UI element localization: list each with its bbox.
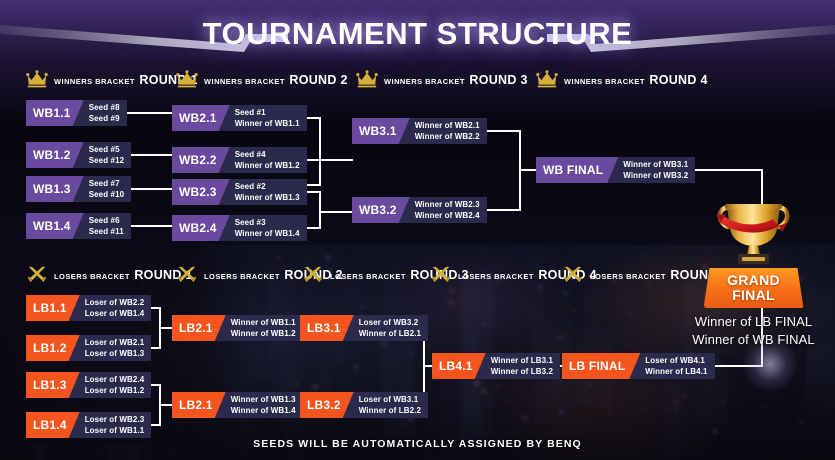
match-info: Winner of LB3.1 Winner of LB3.2 (475, 353, 560, 379)
header-subtitle: LOSERS BRACKET (458, 272, 534, 281)
match-box-wb1-1[interactable]: WB1.1 Seed #8 Seed #9 (26, 100, 127, 126)
match-slot-bottom: Loser of WB1.4 (85, 308, 145, 319)
header-winners-round-3: WINNERS BRACKET ROUND 3 (356, 70, 528, 90)
match-info: Winner of WB2.3 Winner of WB2.4 (399, 197, 487, 223)
match-slot-bottom: Loser of WB1.3 (85, 348, 145, 359)
match-info: Loser of WB3.2 Winner of LB2.1 (343, 315, 428, 341)
match-tag: WB FINAL (536, 157, 618, 183)
match-box-lb3-1[interactable]: LB3.1 Loser of WB3.2 Winner of LB2.1 (300, 315, 428, 341)
match-box-wb3-2[interactable]: WB3.2 Winner of WB2.3 Winner of WB2.4 (352, 197, 487, 223)
header-subtitle: WINNERS BRACKET (384, 77, 465, 86)
crown-icon (536, 70, 558, 90)
crown-icon (356, 70, 378, 90)
match-info: Loser of WB4.1 Winner of LB4.1 (629, 353, 714, 379)
match-slot-top: Winner of WB2.1 (415, 120, 480, 131)
match-box-wb2-3[interactable]: WB2.3 Seed #2 Winner of WB1.3 (172, 179, 307, 205)
match-slot-top: Seed #1 (235, 107, 300, 118)
header-subtitle: WINNERS BRACKET (564, 77, 645, 86)
match-slot-top: Seed #3 (235, 217, 300, 228)
match-info: Loser of WB3.1 Winner of LB2.2 (343, 392, 428, 418)
match-info: Winner of WB1.3 Winner of WB1.4 (215, 392, 303, 418)
match-slot-bottom: Winner of WB1.4 (231, 405, 296, 416)
match-info: Loser of WB2.2 Loser of WB1.4 (69, 295, 152, 321)
header-subtitle: LOSERS BRACKET (590, 272, 666, 281)
match-slot-top: Seed #6 (89, 215, 124, 226)
crown-icon (26, 70, 48, 90)
header-subtitle: WINNERS BRACKET (54, 77, 135, 86)
crossed-swords-icon (26, 265, 48, 285)
match-slot-bottom: Seed #9 (89, 113, 120, 124)
header-winners-round-4: WINNERS BRACKET ROUND 4 (536, 70, 708, 90)
match-slot-top: Loser of WB3.2 (359, 317, 421, 328)
match-info: Loser of WB2.4 Loser of WB1.2 (69, 372, 152, 398)
match-slot-top: Seed #7 (89, 178, 125, 189)
header-subtitle: LOSERS BRACKET (330, 272, 406, 281)
match-slot-bottom: Loser of WB1.2 (85, 385, 145, 396)
page-title: TOURNAMENT STRUCTURE (0, 16, 835, 52)
grand-final-banner[interactable]: GRAND FINAL (704, 268, 804, 308)
match-slot-bottom: Winner of LB2.1 (359, 328, 421, 339)
grand-final-label-line2: FINAL (732, 288, 775, 303)
match-box-lb1-2[interactable]: LB1.2 Loser of WB2.1 Loser of WB1.3 (26, 335, 151, 361)
match-box-wb2-1[interactable]: WB2.1 Seed #1 Winner of WB1.1 (172, 105, 307, 131)
match-slot-bottom: Loser of WB1.1 (85, 425, 145, 436)
tournament-bracket-infographic: TOURNAMENT STRUCTURE (0, 0, 835, 460)
match-tag: LB FINAL (562, 353, 640, 379)
grand-final-entrant-1: Winner of LB FINAL (672, 313, 835, 331)
crossed-swords-icon (302, 265, 324, 285)
header-title: ROUND 4 (649, 73, 707, 87)
match-slot-top: Loser of WB2.2 (85, 297, 145, 308)
match-box-lb1-1[interactable]: LB1.1 Loser of WB2.2 Loser of WB1.4 (26, 295, 151, 321)
match-slot-bottom: Winner of WB1.4 (235, 228, 300, 239)
match-info: Winner of WB3.1 Winner of WB3.2 (607, 157, 695, 183)
match-slot-top: Winner of WB3.1 (623, 159, 688, 170)
crown-icon (176, 70, 198, 90)
match-slot-top: Winner of WB1.3 (231, 394, 296, 405)
match-slot-top: Seed #5 (89, 144, 125, 155)
header-winners-round-2: WINNERS BRACKET ROUND 2 (176, 70, 348, 90)
title-banner: TOURNAMENT STRUCTURE (0, 16, 835, 66)
match-slot-bottom: Winner of LB2.2 (359, 405, 421, 416)
match-box-wb1-3[interactable]: WB1.3 Seed #7 Seed #10 (26, 176, 131, 202)
grand-final-entrant-2: Winner of WB FINAL (672, 331, 835, 349)
match-info: Winner of WB1.1 Winner of WB1.2 (215, 315, 303, 341)
match-slot-bottom: Seed #11 (89, 226, 124, 237)
match-slot-top: Seed #4 (235, 149, 300, 160)
match-slot-top: Winner of WB1.1 (231, 317, 296, 328)
match-slot-bottom: Winner of WB3.2 (623, 170, 688, 181)
match-slot-bottom: Winner of LB4.1 (645, 366, 707, 377)
match-slot-bottom: Seed #10 (89, 189, 125, 200)
match-box-lb-final[interactable]: LB FINAL Loser of WB4.1 Winner of LB4.1 (562, 353, 715, 379)
header-subtitle: LOSERS BRACKET (204, 272, 280, 281)
match-slot-top: Loser of WB2.1 (85, 337, 145, 348)
match-slot-bottom: Winner of WB1.2 (235, 160, 300, 171)
grand-final-entrants: Winner of LB FINAL Winner of WB FINAL (672, 313, 835, 349)
match-slot-bottom: Winner of WB1.2 (231, 328, 296, 339)
match-slot-bottom: Winner of WB2.4 (415, 210, 480, 221)
match-box-lb2-2[interactable]: LB2.1 Winner of WB1.3 Winner of WB1.4 (172, 392, 303, 418)
match-slot-top: Loser of WB4.1 (645, 355, 707, 366)
grand-final-block: GRAND FINAL Winner of LB FINAL Winner of… (672, 196, 835, 349)
match-slot-bottom: Winner of WB2.2 (415, 131, 480, 142)
match-slot-bottom: Winner of WB1.1 (235, 118, 300, 129)
match-box-lb1-4[interactable]: LB1.4 Loser of WB2.3 Loser of WB1.1 (26, 412, 151, 438)
header-subtitle: LOSERS BRACKET (54, 272, 130, 281)
match-info: Winner of WB2.1 Winner of WB2.2 (399, 118, 487, 144)
match-slot-top: Winner of WB2.3 (415, 199, 480, 210)
match-box-wb2-2[interactable]: WB2.2 Seed #4 Winner of WB1.2 (172, 147, 307, 173)
match-box-wb2-4[interactable]: WB2.4 Seed #3 Winner of WB1.4 (172, 215, 307, 241)
match-info: Loser of WB2.3 Loser of WB1.1 (69, 412, 152, 438)
match-box-wb1-2[interactable]: WB1.2 Seed #5 Seed #12 (26, 142, 131, 168)
trophy-icon (672, 196, 835, 268)
crossed-swords-icon (430, 265, 452, 285)
header-subtitle: WINNERS BRACKET (204, 77, 285, 86)
crossed-swords-icon (562, 265, 584, 285)
grand-final-label-line1: GRAND (727, 273, 780, 288)
footer-note: SEEDS WILL BE AUTOMATICALLY ASSIGNED BY … (0, 438, 835, 450)
match-box-lb4-1[interactable]: LB4.1 Winner of LB3.1 Winner of LB3.2 (432, 353, 560, 379)
header-title: ROUND 2 (289, 73, 347, 87)
match-slot-bottom: Seed #12 (89, 155, 125, 166)
match-slot-top: Seed #2 (235, 181, 300, 192)
match-info: Seed #4 Winner of WB1.2 (219, 147, 307, 173)
header-winners-round-1: WINNERS BRACKET ROUND 1 (26, 70, 198, 90)
match-slot-top: Loser of WB3.1 (359, 394, 421, 405)
match-box-lb2-1[interactable]: LB2.1 Winner of WB1.1 Winner of WB1.2 (172, 315, 303, 341)
match-slot-bottom: Winner of LB3.2 (491, 366, 553, 377)
crossed-swords-icon (176, 265, 198, 285)
match-info: Seed #1 Winner of WB1.1 (219, 105, 307, 131)
header-losers-round-1: LOSERS BRACKET ROUND 1 (26, 265, 193, 285)
match-box-wb-final[interactable]: WB FINAL Winner of WB3.1 Winner of WB3.2 (536, 157, 695, 183)
match-slot-top: Loser of WB2.3 (85, 414, 145, 425)
match-box-lb1-3[interactable]: LB1.3 Loser of WB2.4 Loser of WB1.2 (26, 372, 151, 398)
match-info: Seed #2 Winner of WB1.3 (219, 179, 307, 205)
match-box-wb3-1[interactable]: WB3.1 Winner of WB2.1 Winner of WB2.2 (352, 118, 487, 144)
match-slot-bottom: Winner of WB1.3 (235, 192, 300, 203)
match-slot-top: Winner of LB3.1 (491, 355, 553, 366)
header-title: ROUND 3 (469, 73, 527, 87)
match-box-wb1-4[interactable]: WB1.4 Seed #6 Seed #11 (26, 213, 131, 239)
match-slot-top: Seed #8 (89, 102, 120, 113)
match-box-lb3-2[interactable]: LB3.2 Loser of WB3.1 Winner of LB2.2 (300, 392, 428, 418)
match-info: Seed #3 Winner of WB1.4 (219, 215, 307, 241)
match-info: Loser of WB2.1 Loser of WB1.3 (69, 335, 152, 361)
match-slot-top: Loser of WB2.4 (85, 374, 145, 385)
